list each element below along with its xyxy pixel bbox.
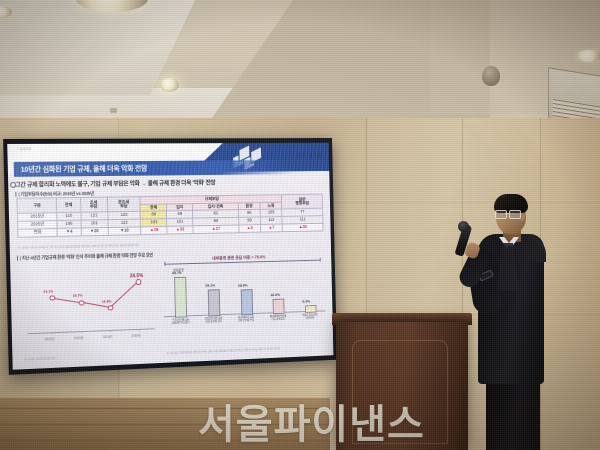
line-value-label: 19.7% [73, 294, 83, 298]
speaker-legs [486, 376, 540, 450]
line-chart-note: 주: 각 연도 조사 응답기업 기준 [24, 356, 55, 361]
bar [273, 298, 285, 314]
th-gubun: 구분 [17, 198, 57, 214]
photo-scene: CERIK I 규제개혁 10년간 심화된 기업 규제, 올해 더욱 악화 전망… [0, 0, 600, 450]
burden-index-table: 구분 전체 조세 부담 준조세 부담 규제부담 일반 행정부담 전체 입지 입지… [16, 194, 323, 238]
table-note: 주: 100을 기준으로 100보다 크면 '부담 증가' 응답이 많음을 의미… [18, 243, 140, 250]
line-point [50, 295, 55, 301]
bar-category-label: 환경·에너지 규제 강화 및 비용 부담 [232, 316, 259, 323]
slide-kicker: I 규제개혁 [17, 147, 31, 151]
cell: ▼20 [81, 228, 108, 236]
brand-logo: CERIK [297, 151, 324, 160]
presentation-slide: CERIK I 규제개혁 10년간 심화된 기업 규제, 올해 더욱 악화 전망… [7, 143, 333, 370]
bar [240, 289, 252, 316]
line-value-label: 24.1% [43, 289, 53, 293]
x-axis-label: 2023년 [74, 335, 84, 340]
bar-category-label: 산업안전 관련 규제 강화 및 처벌 강화 [200, 317, 228, 325]
x-axis-label: 2024년 [103, 334, 113, 339]
downlight [576, 50, 600, 62]
line-point [108, 305, 113, 310]
cell: ▲17 [193, 225, 239, 233]
cell: ▼10 [108, 227, 141, 235]
bar [305, 305, 317, 313]
bar-value-label: 16.0% [270, 293, 280, 297]
th-total: 전체 [57, 197, 81, 213]
bar-value-label: 29.1% [205, 284, 215, 288]
cell: ▲15 [141, 226, 167, 234]
ceiling-speaker-icon [482, 66, 500, 86]
line-segment [109, 281, 137, 308]
line-value-label: 14.8% [102, 299, 112, 303]
bar [208, 290, 221, 317]
line-chart: 24.1%2022년19.7%2023년14.8%2024년34.5%2025년 [22, 264, 159, 353]
slide-title: 10년간 심화된 기업 규제, 올해 더욱 악화 전망 [21, 163, 148, 174]
bar-category-label: 주 52시간 등 노동 규제관련 부담 증가 [166, 318, 194, 326]
watermark: 서울파이낸스 [198, 392, 425, 450]
bar-value-label: 28.9% [238, 283, 248, 287]
th-admin: 일반 행정부담 [282, 194, 323, 209]
bar-chart: 내부환경 관련 응답 비중 = 78.9%내부환경45.7%주 52시간 등 노… [162, 254, 326, 349]
row-label: 변화 [18, 229, 58, 238]
glasses-icon [495, 210, 521, 217]
x-axis-label: 2025년 [131, 333, 141, 338]
projector-screen: CERIK I 규제개혁 10년간 심화된 기업 규제, 올해 더욱 악화 전망… [3, 138, 337, 375]
bar [174, 277, 187, 318]
line-point [79, 300, 84, 305]
th-tax: 조세 부담 [80, 197, 107, 213]
cell: ▲7 [261, 224, 283, 232]
th-quasitax: 준조세 부담 [107, 197, 141, 213]
bar-category-label: 중대재해처벌법 등 신규 규제 도입 [265, 314, 292, 321]
downlight [160, 78, 179, 92]
cell: ▼4 [57, 228, 81, 236]
ceiling-fixture [110, 108, 117, 113]
bar-value-label: 6.3% [302, 300, 310, 304]
cell: ▲32 [167, 226, 193, 234]
slide-title-bar: 10년간 심화된 기업 규제, 올해 더욱 악화 전망 [14, 160, 296, 177]
line-value-label: 34.5% [130, 273, 144, 279]
x-axis-label: 2022년 [44, 336, 54, 341]
bar-value-label: 45.7% [172, 271, 182, 275]
bar-category-label: 부동산·입지 관련 규제 강화 [296, 313, 323, 320]
section-label-charts: | 지난 4년간 기업규제 환경 '악화' 인식 추이와 올해 규제 환경 악화… [20, 252, 153, 261]
cell: ▲3 [239, 225, 261, 233]
slide-subtitle: 그간 규제 합리화 노력에도 불구, 기업 규제 부담은 악화 → 올해 규제 … [15, 178, 215, 189]
line-point [136, 279, 141, 284]
cell: ▲34 [282, 223, 323, 231]
